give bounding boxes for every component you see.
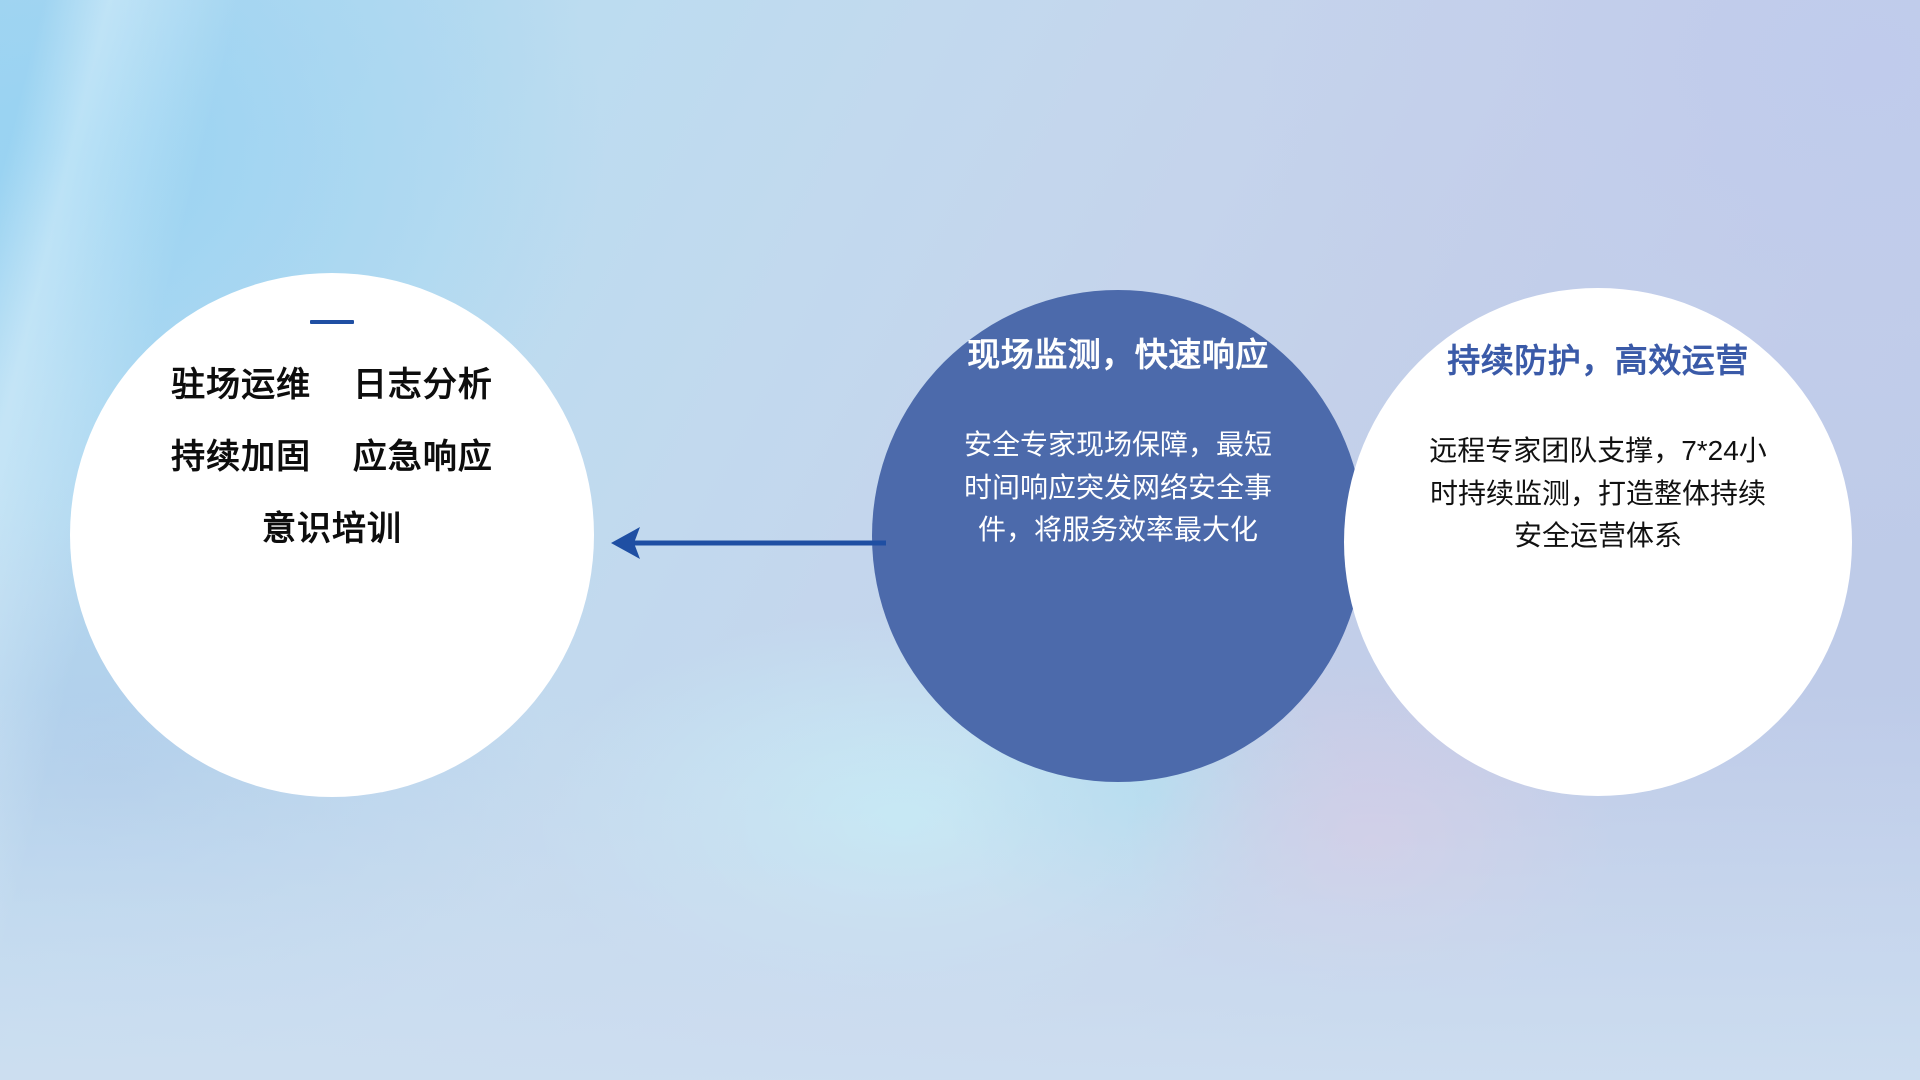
- flow-arrow-left-icon: [600, 515, 890, 571]
- continuous-protection-body: 远程专家团队支撑，7*24小时持续监测，打造整体持续安全运营体系: [1428, 430, 1768, 558]
- continuous-protection-content: 持续防护，高效运营 远程专家团队支撑，7*24小时持续监测，打造整体持续安全运营…: [1344, 288, 1852, 796]
- onsite-monitoring-circle[interactable]: 现场监测，快速响应 安全专家现场保障，最短时间响应突发网络安全事件，将服务效率最…: [872, 290, 1364, 782]
- capability-circle-content: 驻场运维 日志分析 持续加固 应急响应 意识培训: [70, 273, 594, 797]
- onsite-monitoring-content: 现场监测，快速响应 安全专家现场保障，最短时间响应突发网络安全事件，将服务效率最…: [872, 290, 1364, 782]
- slide-canvas: 驻场运维 日志分析 持续加固 应急响应 意识培训 现场监测，快速响应 安全专家现…: [0, 0, 1920, 1080]
- capability-circle[interactable]: 驻场运维 日志分析 持续加固 应急响应 意识培训: [70, 273, 594, 797]
- divider-dash-icon: [310, 320, 354, 324]
- capability-line-1: 驻场运维 日志分析: [171, 368, 493, 402]
- onsite-monitoring-title: 现场监测，快速响应: [967, 328, 1269, 376]
- onsite-monitoring-body: 安全专家现场保障，最短时间响应突发网络安全事件，将服务效率最大化: [963, 424, 1273, 552]
- continuous-protection-title: 持续防护，高效运营: [1447, 334, 1749, 382]
- continuous-protection-circle[interactable]: 持续防护，高效运营 远程专家团队支撑，7*24小时持续监测，打造整体持续安全运营…: [1344, 288, 1852, 796]
- capability-line-3: 意识培训: [262, 512, 402, 546]
- capability-line-2: 持续加固 应急响应: [171, 440, 493, 474]
